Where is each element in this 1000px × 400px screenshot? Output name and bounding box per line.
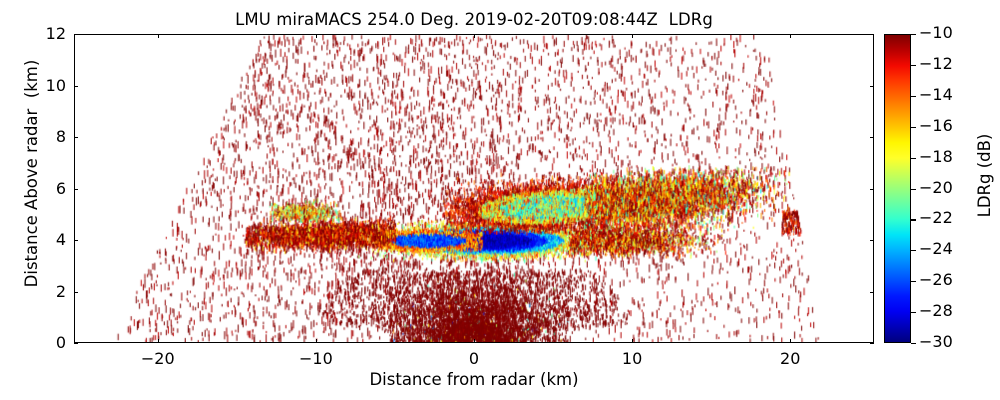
colorbar-tick-mark bbox=[911, 127, 916, 128]
colorbar-tick-label: −10 bbox=[919, 23, 953, 42]
colorbar-tick-mark bbox=[911, 312, 916, 313]
colorbar-tick-mark bbox=[911, 343, 916, 344]
y-tick-mark bbox=[74, 343, 78, 344]
colorbar-tick-mark bbox=[911, 158, 916, 159]
x-tick-mark bbox=[316, 339, 317, 343]
y-tick-mark bbox=[74, 34, 78, 35]
y-tick-mark bbox=[74, 137, 78, 138]
scatter-plot-canvas bbox=[75, 35, 873, 342]
x-tick-label: 20 bbox=[760, 349, 820, 368]
colorbar-tick-mark bbox=[911, 34, 916, 35]
colorbar-tick-label: −20 bbox=[919, 178, 953, 197]
y-axis-label: Distance Above radar (km) bbox=[22, 19, 41, 328]
x-tick-label: 10 bbox=[602, 349, 662, 368]
y-tick-mark bbox=[870, 240, 874, 241]
y-tick-mark bbox=[74, 189, 78, 190]
colorbar-tick-mark bbox=[911, 219, 916, 220]
colorbar bbox=[884, 34, 911, 343]
x-tick-mark bbox=[158, 34, 159, 38]
colorbar-tick-mark bbox=[911, 281, 916, 282]
x-tick-mark bbox=[158, 339, 159, 343]
y-tick-mark bbox=[74, 292, 78, 293]
colorbar-tick-mark bbox=[911, 189, 916, 190]
colorbar-tick-label: −16 bbox=[919, 116, 953, 135]
x-axis-label: Distance from radar (km) bbox=[74, 370, 874, 389]
y-tick-mark bbox=[870, 86, 874, 87]
y-tick-mark bbox=[74, 240, 78, 241]
colorbar-tick-label: −12 bbox=[919, 54, 953, 73]
colorbar-tick-label: −18 bbox=[919, 147, 953, 166]
colorbar-gradient bbox=[885, 35, 910, 342]
colorbar-tick-label: −30 bbox=[919, 332, 953, 351]
colorbar-tick-label: −28 bbox=[919, 301, 953, 320]
y-tick-mark bbox=[870, 292, 874, 293]
x-tick-label: −20 bbox=[128, 349, 188, 368]
y-tick-mark bbox=[870, 189, 874, 190]
colorbar-tick-label: −22 bbox=[919, 208, 953, 227]
radar-rhi-figure: LMU miraMACS 254.0 Deg. 2019-02-20T09:08… bbox=[0, 0, 1000, 400]
plot-axes-area bbox=[74, 34, 874, 343]
figure-title: LMU miraMACS 254.0 Deg. 2019-02-20T09:08… bbox=[0, 10, 948, 29]
x-tick-mark bbox=[632, 34, 633, 38]
x-tick-mark bbox=[474, 339, 475, 343]
colorbar-tick-label: −26 bbox=[919, 270, 953, 289]
colorbar-label: LDRg (dB) bbox=[975, 21, 994, 330]
colorbar-tick-mark bbox=[911, 96, 916, 97]
x-tick-mark bbox=[316, 34, 317, 38]
colorbar-tick-mark bbox=[911, 65, 916, 66]
y-tick-mark bbox=[870, 137, 874, 138]
colorbar-tick-mark bbox=[911, 250, 916, 251]
x-tick-mark bbox=[790, 339, 791, 343]
x-tick-mark bbox=[474, 34, 475, 38]
colorbar-tick-label: −14 bbox=[919, 85, 953, 104]
y-tick-mark bbox=[74, 86, 78, 87]
x-tick-mark bbox=[790, 34, 791, 38]
y-tick-mark bbox=[870, 34, 874, 35]
y-tick-label: 0 bbox=[26, 333, 66, 352]
colorbar-tick-label: −24 bbox=[919, 239, 953, 258]
x-tick-mark bbox=[632, 339, 633, 343]
x-tick-label: 0 bbox=[444, 349, 504, 368]
y-tick-mark bbox=[870, 343, 874, 344]
x-tick-label: −10 bbox=[286, 349, 346, 368]
